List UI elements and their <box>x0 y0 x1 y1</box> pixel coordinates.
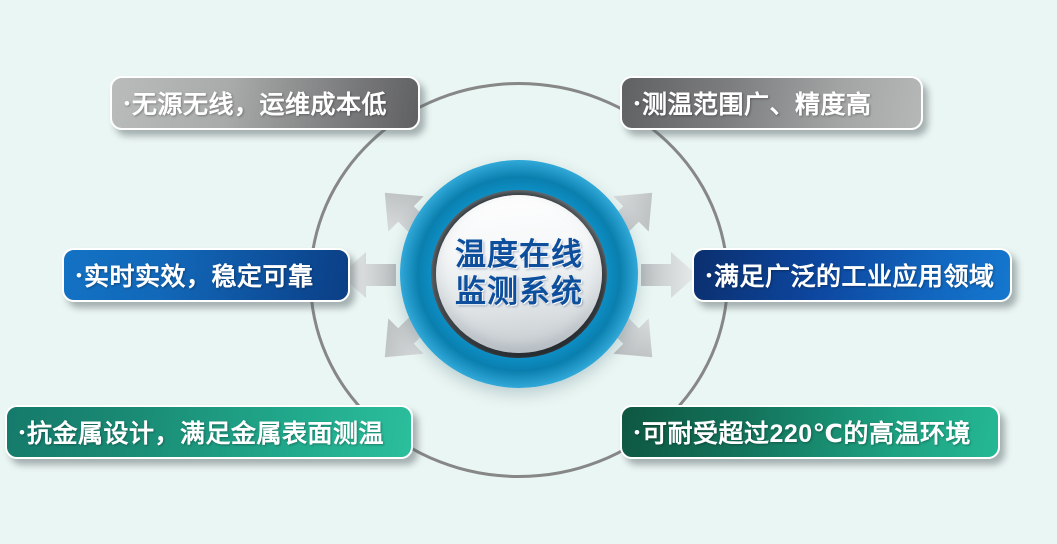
node-bottom-right[interactable]: • 可耐受超过220℃的高温环境 <box>620 405 1000 459</box>
center-hub: 温度在线 监测系统 <box>400 160 638 388</box>
node-top-left[interactable]: • 无源无线，运维成本低 <box>110 76 420 130</box>
node-bottom-right-label: 可耐受超过220℃的高温环境 <box>642 414 971 450</box>
center-title-line1: 温度在线 <box>455 237 583 274</box>
node-top-right-label: 测温范围广、精度高 <box>642 85 872 121</box>
bullet-icon: • <box>19 424 25 441</box>
node-middle-right-label: 满足广泛的工业应用领域 <box>714 257 995 293</box>
diagram-canvas: 温度在线 监测系统 • 无源无线，运维成本低 • 测温范围广、精度高 • 实时实… <box>0 0 1057 544</box>
bullet-icon: • <box>76 267 82 284</box>
bullet-icon: • <box>634 424 640 441</box>
node-top-left-label: 无源无线，运维成本低 <box>132 85 387 121</box>
bullet-icon: • <box>706 267 712 284</box>
center-title-line2: 监测系统 <box>455 274 583 311</box>
arrow-right <box>641 252 697 298</box>
hub-inner-disc: 温度在线 监测系统 <box>436 195 602 353</box>
node-top-right[interactable]: • 测温范围广、精度高 <box>620 76 923 130</box>
bullet-icon: • <box>124 95 130 112</box>
node-bottom-left[interactable]: • 抗金属设计，满足金属表面测温 <box>5 405 413 459</box>
node-bottom-left-label: 抗金属设计，满足金属表面测温 <box>27 414 384 450</box>
node-middle-right[interactable]: • 满足广泛的工业应用领域 <box>692 248 1012 302</box>
hub-dark-ring: 温度在线 监测系统 <box>431 190 607 358</box>
node-middle-left-label: 实时实效，稳定可靠 <box>84 257 314 293</box>
node-middle-left[interactable]: • 实时实效，稳定可靠 <box>62 248 350 302</box>
bullet-icon: • <box>634 95 640 112</box>
